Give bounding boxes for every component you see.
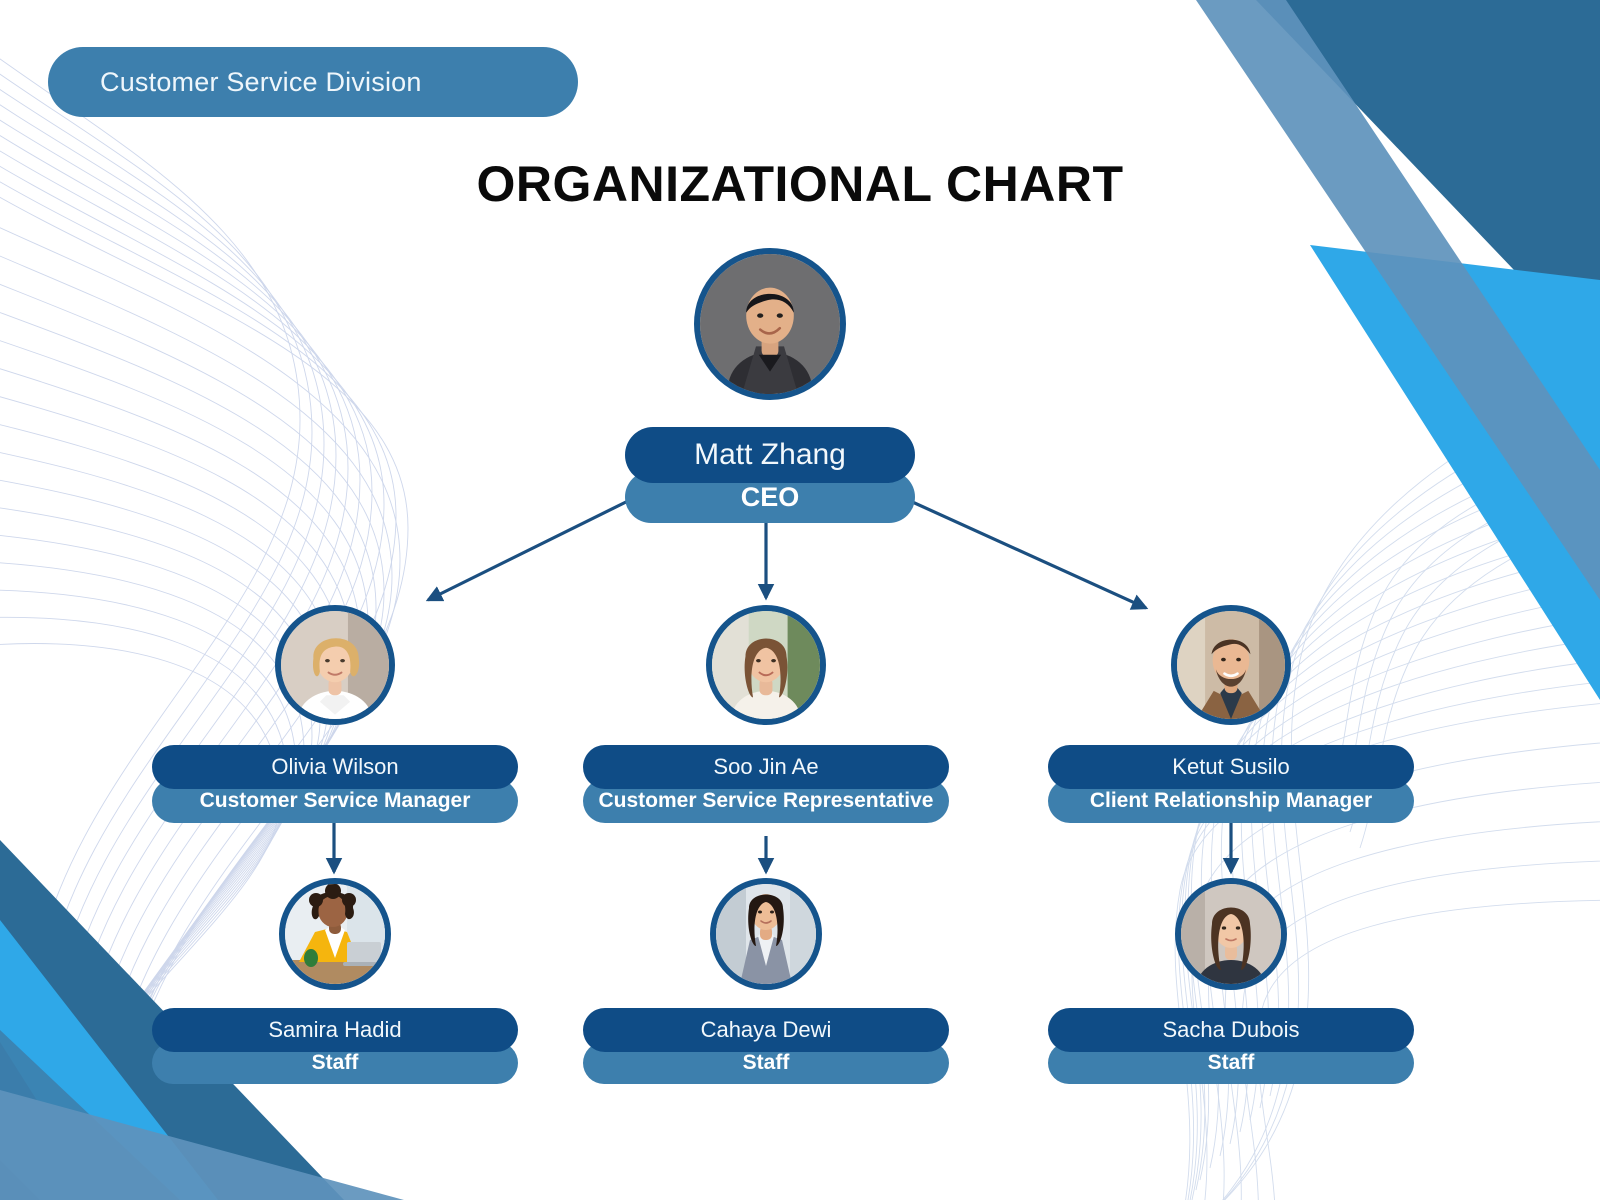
- division-badge-label: Customer Service Division: [100, 67, 422, 98]
- division-badge: Customer Service Division: [48, 47, 578, 117]
- avatar-olivia-wilson: [275, 605, 395, 725]
- node-name-ceo: Matt Zhang: [625, 427, 915, 483]
- organizational-chart-slide: Customer Service Division ORGANIZATIONAL…: [0, 0, 1600, 1200]
- avatar-cahaya-dewi: [710, 878, 822, 990]
- node-name-cahaya: Cahaya Dewi: [583, 1008, 949, 1052]
- org-node-ceo[interactable]: Matt Zhang CEO: [615, 248, 925, 523]
- edge-ceo-olivia: [428, 500, 630, 600]
- org-node-ketut-susilo[interactable]: Ketut Susilo Client Relationship Manager: [1048, 605, 1414, 823]
- page-title: ORGANIZATIONAL CHART: [0, 155, 1600, 213]
- corner-decoration-top-right: [1196, 0, 1600, 700]
- org-node-cahaya-dewi[interactable]: Cahaya Dewi Staff: [583, 878, 949, 1084]
- node-name-sacha: Sacha Dubois: [1048, 1008, 1414, 1052]
- avatar-samira-hadid: [279, 878, 391, 990]
- node-name-soo: Soo Jin Ae: [583, 745, 949, 789]
- avatar-sacha-dubois: [1175, 878, 1287, 990]
- org-node-sacha-dubois[interactable]: Sacha Dubois Staff: [1048, 878, 1414, 1084]
- org-node-samira-hadid[interactable]: Samira Hadid Staff: [152, 878, 518, 1084]
- node-name-samira: Samira Hadid: [152, 1008, 518, 1052]
- node-name-olivia: Olivia Wilson: [152, 745, 518, 789]
- edge-ceo-ketut: [908, 500, 1146, 608]
- avatar-ketut-susilo: [1171, 605, 1291, 725]
- org-node-soo-jin-ae[interactable]: Soo Jin Ae Customer Service Representati…: [583, 605, 949, 823]
- avatar-soo-jin-ae: [706, 605, 826, 725]
- avatar-matt-zhang: [694, 248, 846, 400]
- node-name-ketut: Ketut Susilo: [1048, 745, 1414, 789]
- org-node-olivia-wilson[interactable]: Olivia Wilson Customer Service Manager: [152, 605, 518, 823]
